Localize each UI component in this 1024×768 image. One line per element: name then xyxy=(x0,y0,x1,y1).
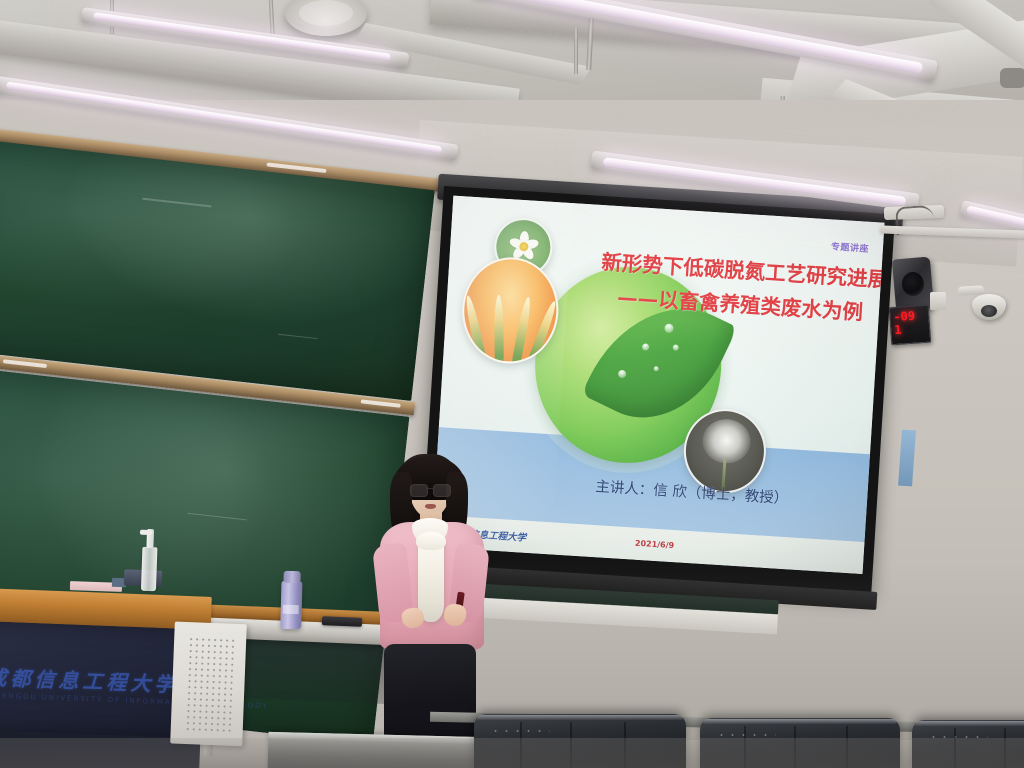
presenter-mouth xyxy=(425,504,436,509)
purple-thermos xyxy=(280,571,303,630)
glasses-icon xyxy=(410,484,451,495)
speaker-perforation-pattern xyxy=(185,636,235,734)
floor xyxy=(0,738,1024,768)
lecture-hall-photo: 专题讲座 新形势下低碳脱氮工艺研究进展 ——以畜禽养殖类废水为例 主讲人：信 欣… xyxy=(0,0,1024,768)
led-clock-text: -09 1 xyxy=(893,310,916,337)
light-hanger-rod xyxy=(574,28,578,74)
led-clock-display: -09 1 xyxy=(889,305,932,346)
ceiling-fan-hub xyxy=(1000,68,1024,88)
slide-tag-label: 专题讲座 xyxy=(831,239,870,254)
junction-box xyxy=(930,292,946,310)
hand-sanitizer-bottle xyxy=(141,529,158,591)
podium-speaker-panel xyxy=(170,622,247,747)
presenter-scarf-knot xyxy=(416,532,446,550)
wall-speaker-icon xyxy=(892,256,934,311)
phone-on-desk xyxy=(322,616,362,627)
